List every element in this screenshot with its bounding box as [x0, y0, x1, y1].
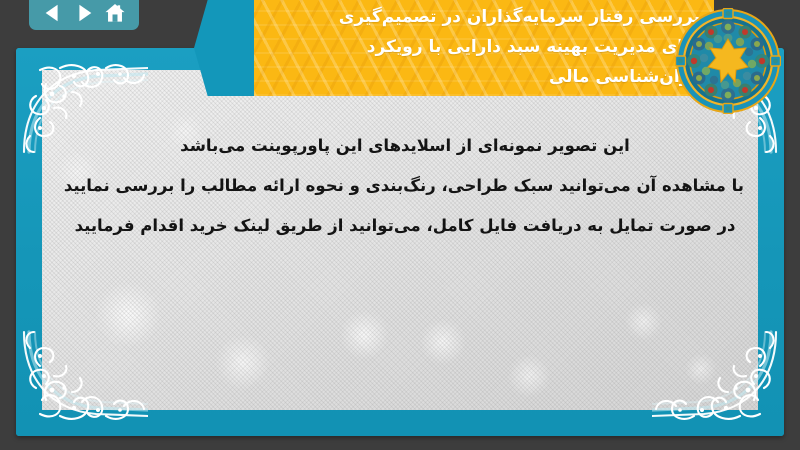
- home-icon[interactable]: [104, 2, 126, 24]
- slide-stage: این تصویر نمونه‌ای از اسلایدهای این پاور…: [0, 0, 800, 450]
- title-banner: بررسی رفتار سرمایه‌گذاران در تصمیم‌گیری …: [194, 0, 714, 96]
- title-line-2: برای مدیریت بهینه سبد دارایی با رویکرد: [230, 32, 700, 62]
- body-line-1: این تصویر نمونه‌ای از اسلایدهای این پاور…: [66, 126, 744, 166]
- persian-medallion-icon: [675, 8, 781, 114]
- title-line-3: روان‌شناسی مالی: [230, 62, 700, 92]
- slide-body-text: این تصویر نمونه‌ای از اسلایدهای این پاور…: [66, 126, 744, 246]
- back-icon[interactable]: [42, 2, 64, 24]
- slide-title: بررسی رفتار سرمایه‌گذاران در تصمیم‌گیری …: [230, 2, 700, 92]
- body-line-3: در صورت تمایل به دریافت فایل کامل، می‌تو…: [66, 206, 744, 246]
- slide-frame: این تصویر نمونه‌ای از اسلایدهای این پاور…: [16, 48, 784, 436]
- title-line-1: بررسی رفتار سرمایه‌گذاران در تصمیم‌گیری: [230, 2, 700, 32]
- body-line-2: با مشاهده آن می‌توانید سبک طراحی، رنگ‌بن…: [66, 166, 744, 206]
- navigation-bar[interactable]: [29, 0, 139, 30]
- forward-icon[interactable]: [73, 2, 95, 24]
